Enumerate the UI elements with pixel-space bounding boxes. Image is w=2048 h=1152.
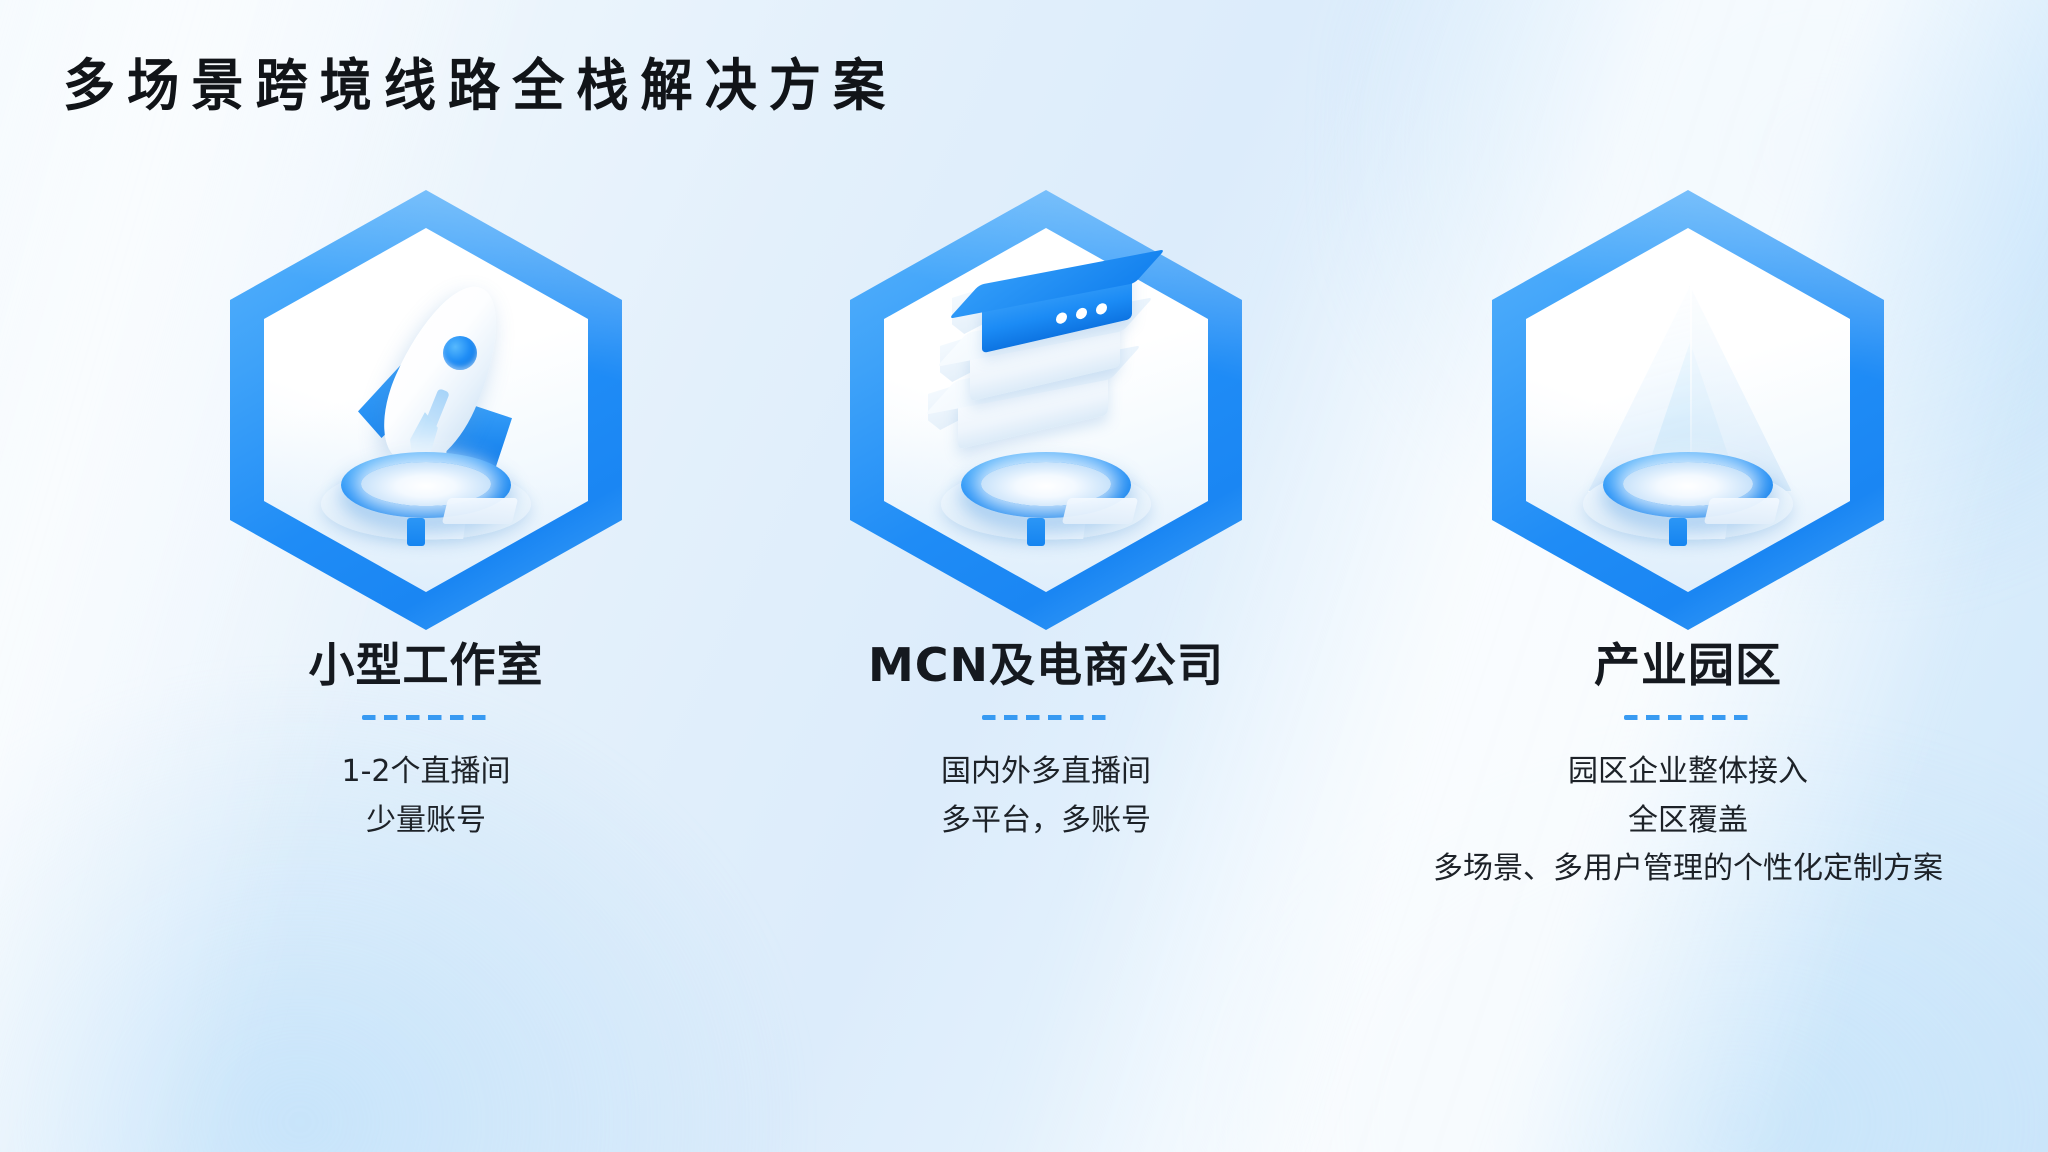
title-dashed-divider — [362, 715, 490, 720]
card-description-line: 全区覆盖 — [1433, 797, 1943, 846]
hexagon-badge — [850, 190, 1242, 630]
card-description-line: 多平台，多账号 — [941, 797, 1151, 846]
card-description: 国内外多直播间 多平台，多账号 — [941, 748, 1151, 845]
scenario-card-small-studio[interactable]: 小型工作室 1-2个直播间 少量账号 — [116, 190, 736, 894]
card-description-line: 少量账号 — [342, 797, 511, 846]
pedestal-glow-ring — [961, 452, 1131, 518]
scenario-card-mcn-ecommerce[interactable]: MCN及电商公司 国内外多直播间 多平台，多账号 — [736, 190, 1356, 894]
rocket-icon — [264, 228, 588, 592]
card-description: 园区企业整体接入 全区覆盖 多场景、多用户管理的个性化定制方案 — [1433, 748, 1943, 894]
card-description-line: 1-2个直播间 — [342, 748, 511, 797]
glow-ring-pedestal — [319, 448, 533, 540]
hexagon-badge — [230, 190, 622, 630]
page-title: 多场景跨境线路全栈解决方案 — [63, 54, 897, 120]
card-description-line: 园区企业整体接入 — [1433, 748, 1943, 797]
title-dashed-divider — [1624, 715, 1752, 720]
card-description-line: 国内外多直播间 — [941, 748, 1151, 797]
server-layer-top — [982, 284, 1132, 336]
pedestal-glow-ring — [1603, 452, 1773, 518]
pedestal-ring-gap — [407, 518, 425, 546]
card-title: MCN及电商公司 — [868, 638, 1224, 693]
rocket-window — [443, 336, 477, 370]
title-dashed-divider — [982, 715, 1110, 720]
server-stack-icon — [884, 228, 1208, 592]
pedestal-ring-gap — [1669, 518, 1687, 546]
scenario-card-industrial-park[interactable]: 产业园区 园区企业整体接入 全区覆盖 多场景、多用户管理的个性化定制方案 — [1338, 190, 2038, 894]
pedestal-ring-gap — [1027, 518, 1045, 546]
card-description: 1-2个直播间 少量账号 — [342, 748, 511, 845]
card-title: 产业园区 — [1594, 638, 1782, 693]
hexagon-badge — [1492, 190, 1884, 630]
card-title: 小型工作室 — [309, 638, 544, 693]
card-description-line: 多场景、多用户管理的个性化定制方案 — [1433, 845, 1943, 894]
pedestal-glow-ring — [341, 452, 511, 518]
scenario-card-row: 小型工作室 1-2个直播间 少量账号 — [0, 190, 2048, 894]
glow-ring-pedestal — [939, 448, 1153, 540]
glass-pyramid-icon — [1526, 228, 1850, 592]
glow-ring-pedestal — [1581, 448, 1795, 540]
